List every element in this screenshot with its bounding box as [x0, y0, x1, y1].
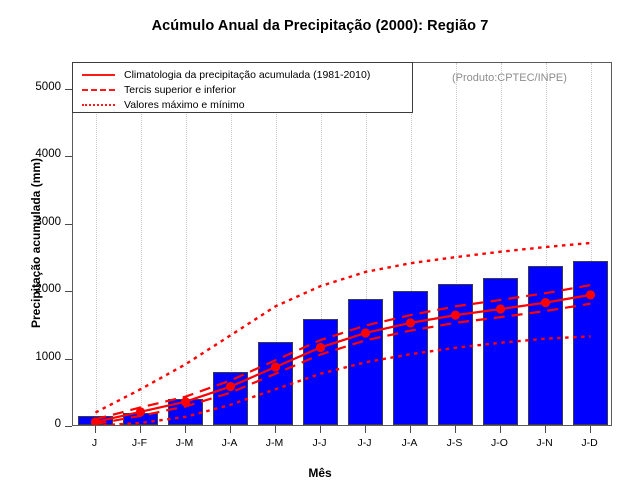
x-tick-mark: [185, 426, 186, 433]
x-tick-mark: [140, 426, 141, 433]
legend-item-tercis: Tercis superior e inferior: [79, 83, 406, 97]
line-dotted: [96, 243, 591, 413]
x-tick-label-J-F: J-F: [120, 437, 160, 449]
legend-label: Tercis superior e inferior: [124, 84, 236, 96]
y-tick-label: 4000: [15, 148, 61, 160]
x-tick-mark: [230, 426, 231, 433]
y-tick-mark: [65, 291, 72, 292]
y-tick-label: 3000: [15, 216, 61, 228]
x-tick-label-J-M: J-M: [165, 437, 205, 449]
chart-title: Acúmulo Anual da Precipitação (2000): Re…: [0, 18, 640, 34]
legend-label: Valores máximo e mínimo: [124, 99, 245, 111]
data-point: [451, 311, 460, 320]
x-tick-mark: [590, 426, 591, 433]
producer-annotation: (Produto:CPTEC/INPE): [452, 72, 567, 84]
data-point: [316, 343, 325, 352]
y-tick-mark: [65, 426, 72, 427]
x-axis-label: Mês: [0, 466, 640, 480]
x-tick-label-J-A: J-A: [390, 437, 430, 449]
x-tick-mark: [365, 426, 366, 433]
x-tick-mark: [500, 426, 501, 433]
legend-item-extremos: Valores máximo e mínimo: [79, 98, 406, 112]
plot-area: [72, 62, 612, 426]
y-tick-mark: [65, 89, 72, 90]
dashed-line-key-icon: [79, 84, 117, 96]
line-series-overlay: [73, 63, 611, 425]
chart-legend: Climatologia da precipitação acumulada (…: [72, 62, 413, 113]
y-tick-mark: [65, 156, 72, 157]
y-tick-label: 1000: [15, 351, 61, 363]
x-tick-label-J: J: [75, 437, 115, 449]
x-tick-mark: [275, 426, 276, 433]
data-point: [496, 304, 505, 313]
x-tick-label-J-J: J-J: [300, 437, 340, 449]
data-point: [226, 382, 235, 391]
x-tick-label-J-J: J-J: [345, 437, 385, 449]
x-tick-mark: [320, 426, 321, 433]
data-point: [361, 328, 370, 337]
dotted-line-key-icon: [79, 99, 117, 111]
solid-line-key-icon: [79, 69, 117, 81]
x-tick-label-J-M: J-M: [255, 437, 295, 449]
line-dashed: [96, 285, 591, 419]
x-tick-label-J-O: J-O: [480, 437, 520, 449]
x-tick-label-J-S: J-S: [435, 437, 475, 449]
x-tick-mark: [95, 426, 96, 433]
y-tick-mark: [65, 359, 72, 360]
legend-label: Climatologia da precipitação acumulada (…: [124, 69, 370, 81]
x-tick-mark: [410, 426, 411, 433]
line-dotted: [96, 336, 591, 425]
data-point: [586, 290, 595, 299]
data-point: [541, 298, 550, 307]
x-tick-mark: [545, 426, 546, 433]
y-tick-label: 0: [15, 418, 61, 430]
legend-item-climatologia: Climatologia da precipitação acumulada (…: [79, 68, 406, 82]
x-tick-label-J-D: J-D: [570, 437, 610, 449]
x-tick-label-J-A: J-A: [210, 437, 250, 449]
data-point: [271, 362, 280, 371]
plot-inner: [73, 63, 611, 425]
y-tick-mark: [65, 224, 72, 225]
chart-canvas: Acúmulo Anual da Precipitação (2000): Re…: [0, 0, 640, 500]
x-tick-label-J-N: J-N: [525, 437, 565, 449]
data-point: [406, 318, 415, 327]
x-tick-mark: [455, 426, 456, 433]
y-tick-label: 2000: [15, 283, 61, 295]
y-tick-label: 5000: [15, 81, 61, 93]
